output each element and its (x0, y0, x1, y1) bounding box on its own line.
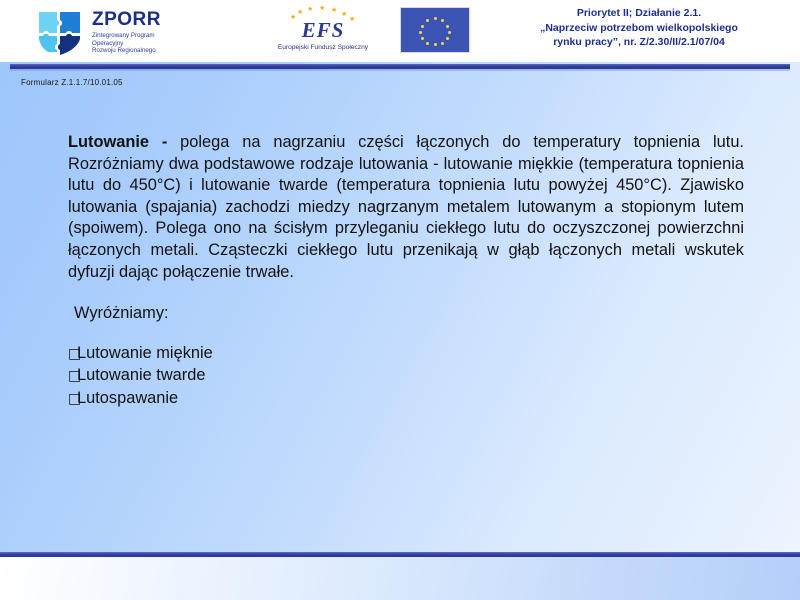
priority-line-3: rynku pracy”, nr. Z/2.30/II/2.1/07/04 (484, 35, 794, 50)
efs-logo: ★ ★ ★ ★ ★ ★ ★ EFS Europejski Fundusz Spo… (258, 6, 388, 51)
definition-paragraph: Lutowanie - polega na nagrzaniu części ł… (68, 132, 744, 283)
slide-content: Lutowanie - polega na nagrzaniu części ł… (68, 132, 744, 411)
efs-stars-arc-icon: ★ ★ ★ ★ ★ ★ ★ (286, 6, 360, 19)
zporr-subtitle-line-1: Zintegrowany Program (92, 32, 242, 40)
priority-line-2: „Naprzeciw potrzebom wielkopolskiego (484, 21, 794, 36)
zporr-wordmark: ZPORR Zintegrowany Program Operacyjny Ro… (92, 10, 242, 55)
efs-wordmark: EFS (258, 19, 388, 41)
slide: ZPORR Zintegrowany Program Operacyjny Ro… (0, 0, 800, 600)
list-item: □Lutospawanie (68, 388, 744, 411)
bullet-box-icon: □ (68, 389, 77, 411)
header-band: ZPORR Zintegrowany Program Operacyjny Ro… (0, 0, 800, 62)
priority-heading: Priorytet II; Działanie 2.1. „Naprzeciw … (484, 6, 794, 50)
european-union-flag-icon (400, 7, 470, 53)
form-number-label: Formularz Z.1.1.7/10.01.05 (21, 78, 123, 87)
definition-body: polega na nagrzaniu części łączonych do … (68, 133, 744, 281)
eu-flag-stars (401, 8, 469, 52)
list-item: □Lutowanie twarde (68, 365, 744, 388)
list-item-label: Lutowanie mięknie (77, 344, 213, 362)
zporr-subtitle-line-3: Rozwoju Regionalnego (92, 47, 242, 55)
zporr-subtitle-line-2: Operacyjny (92, 40, 242, 48)
header-inner: ZPORR Zintegrowany Program Operacyjny Ro… (0, 0, 800, 62)
zporr-subtitle: Zintegrowany Program Operacyjny Rozwoju … (92, 32, 242, 55)
list-item: □Lutowanie mięknie (68, 343, 744, 366)
bullet-box-icon: □ (68, 344, 77, 366)
header-divider-shadow (10, 69, 790, 71)
definition-term: Lutowanie - (68, 133, 167, 151)
zporr-title: ZPORR (92, 10, 242, 30)
footer-band: A T C Projekt współfinansowany przez Uni… (0, 557, 800, 600)
bullet-box-icon: □ (68, 366, 77, 388)
efs-caption: Europejski Fundusz Społeczny (258, 44, 388, 51)
zporr-puzzle-logo-icon (36, 8, 84, 56)
priority-line-1: Priorytet II; Działanie 2.1. (484, 6, 794, 21)
list-item-label: Lutospawanie (77, 389, 178, 407)
soldering-types-list: □Lutowanie mięknie □Lutowanie twarde □Lu… (68, 343, 744, 411)
list-item-label: Lutowanie twarde (77, 366, 205, 384)
list-subheading: Wyróżniamy: (74, 303, 744, 325)
